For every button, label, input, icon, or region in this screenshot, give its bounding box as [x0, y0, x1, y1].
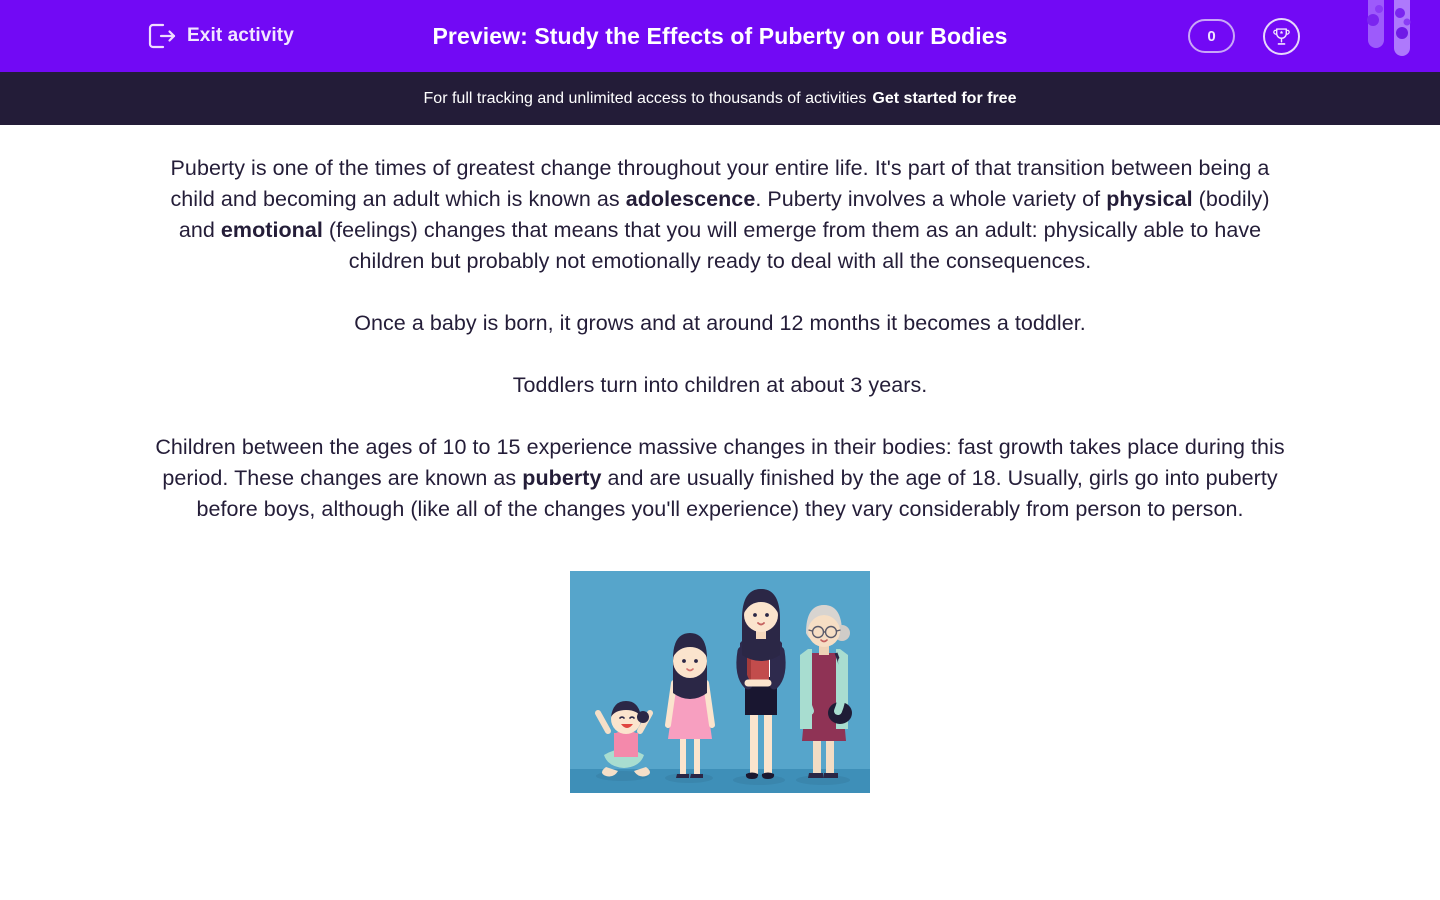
- trophy-icon: [1271, 26, 1292, 47]
- paragraph-children: Children between the ages of 10 to 15 ex…: [150, 432, 1290, 525]
- term-adolescence: adolescence: [626, 187, 756, 211]
- activity-content: Puberty is one of the times of greatest …: [0, 125, 1440, 793]
- paragraph-baby: Once a baby is born, it grows and at aro…: [150, 308, 1290, 339]
- exit-activity-label: Exit activity: [187, 25, 294, 47]
- p1-text-b: . Puberty involves a whole variety of: [755, 187, 1106, 211]
- exit-arrow-icon: [148, 23, 176, 49]
- term-puberty: puberty: [522, 466, 601, 490]
- term-emotional: emotional: [221, 218, 323, 242]
- header-actions: 0: [1188, 0, 1440, 72]
- test-tubes-icon: [1362, 0, 1422, 58]
- paragraph-intro: Puberty is one of the times of greatest …: [150, 153, 1290, 277]
- p1-text-d: (feelings) changes that means that you w…: [323, 218, 1261, 273]
- paragraph-toddler: Toddlers turn into children at about 3 y…: [150, 370, 1290, 401]
- exit-activity-button[interactable]: Exit activity: [148, 0, 294, 72]
- term-physical: physical: [1106, 187, 1192, 211]
- promo-text: For full tracking and unlimited access t…: [424, 90, 867, 108]
- promo-banner: For full tracking and unlimited access t…: [0, 72, 1440, 125]
- stages-of-female-life-illustration: [570, 571, 870, 793]
- trophy-button[interactable]: [1263, 18, 1300, 55]
- app-header: Exit activity Preview: Study the Effects…: [0, 0, 1440, 72]
- get-started-link[interactable]: Get started for free: [872, 90, 1016, 108]
- score-badge[interactable]: 0: [1188, 19, 1235, 53]
